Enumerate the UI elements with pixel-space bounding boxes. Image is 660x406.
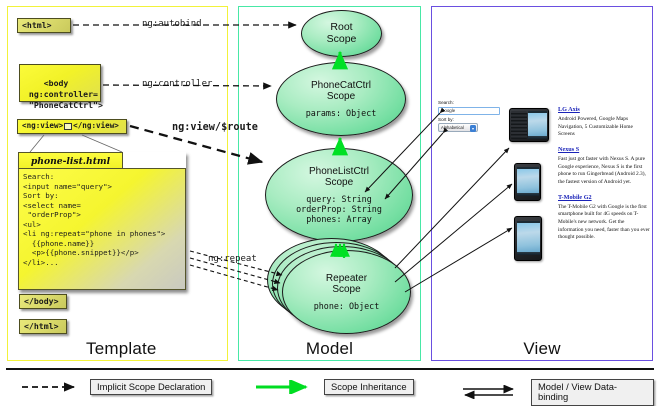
html-close-tag: </html>: [19, 319, 67, 334]
phone-keyboard: [511, 111, 527, 139]
ngview-close-text: </ng:view>: [73, 121, 119, 131]
diagram-canvas: Template Model View: [0, 0, 660, 405]
list-item: LG Axis Android Powered, Google Maps Nav…: [558, 106, 650, 139]
note-code: Search: <input name="query"> Sort by: <s…: [18, 168, 186, 290]
ngview-tag: <ng:view> </ng:view>: [17, 119, 127, 134]
scope-phonelistctrl: PhoneListCtrlScope query: String orderPr…: [265, 148, 413, 242]
edge-label-repeat: ng:repeat: [208, 254, 257, 264]
scope-phonelistctrl-name: PhoneListCtrlScope: [309, 166, 369, 189]
phone-image-lg-axis: [509, 108, 549, 142]
body-close-tag-text: </body>: [24, 296, 59, 307]
html-open-tag: <html>: [17, 18, 71, 33]
green-arrow-icon: [254, 380, 316, 394]
legend: Implicit Scope Declaration Scope Inherit…: [6, 368, 654, 402]
phone-snippet: The T-Mobile G2 with Google is the first…: [558, 204, 650, 242]
html-open-tag-text: <html>: [22, 20, 52, 31]
sort-select[interactable]: Alphabetical ▾: [438, 123, 478, 132]
double-arrow-icon: [461, 385, 523, 399]
sort-select-value: Alphabetical: [441, 125, 464, 130]
body-open-tag-text: <body ng:controller= "PhoneCatCtrl">: [24, 78, 103, 110]
scope-repeater-name: RepeaterScope: [326, 273, 367, 296]
scope-repeater: RepeaterScope phone: Object: [282, 250, 411, 334]
scope-root: RootScope: [301, 10, 382, 57]
list-item: Nexus S Fast just got faster with Nexus …: [558, 146, 650, 187]
ngview-open-text: <ng:view>: [22, 121, 63, 131]
phone-name-link[interactable]: T-Mobile G2: [558, 194, 650, 201]
dashed-arrow-icon: [20, 380, 82, 394]
phone-name-link[interactable]: Nexus S: [558, 146, 650, 153]
phone-snippet: Android Powered, Google Maps Navigation,…: [558, 116, 650, 139]
column-label-model: Model: [239, 339, 420, 359]
scope-phonecatctrl: PhoneCatCtrlScope params: Object: [276, 62, 406, 136]
sort-label: Sort by:: [438, 117, 506, 123]
phone-screen: [517, 221, 540, 255]
legend-label-scope-inheritance: Scope Inheritance: [324, 379, 414, 395]
edge-label-controller: ng:controller: [142, 79, 212, 89]
legend-divider: [6, 368, 654, 370]
column-label-view: View: [432, 339, 652, 359]
edge-label-autobind: ng:autobind: [142, 19, 202, 29]
phone-image-nexus-s: [514, 163, 541, 201]
phone-list-note-card: phone-list.html Search: <input name="que…: [18, 152, 186, 290]
legend-item-implicit-scope: Implicit Scope Declaration: [20, 379, 212, 395]
html-close-tag-text: </html>: [24, 321, 59, 332]
scope-phonecatctrl-name: PhoneCatCtrlScope: [311, 80, 371, 103]
scope-root-name: RootScope: [327, 22, 357, 46]
search-widget: Search: Google Sort by: Alphabetical ▾: [438, 100, 506, 140]
scope-phonelistctrl-props: query: String orderProp: String phones: …: [296, 194, 382, 224]
legend-label-implicit-scope: Implicit Scope Declaration: [90, 379, 212, 395]
phone-snippet: Fast just got faster with Nexus S. A pur…: [558, 156, 650, 187]
phone-name-link[interactable]: LG Axis: [558, 106, 650, 113]
body-close-tag: </body>: [19, 294, 67, 309]
chevron-down-icon: ▾: [470, 125, 476, 132]
search-label: Search:: [438, 100, 506, 106]
legend-item-data-binding: Model / View Data-binding: [461, 379, 654, 406]
scope-repeater-props: phone: Object: [314, 301, 380, 311]
phone-image-tmobile-g2: [514, 216, 542, 261]
body-open-tag: <body ng:controller= "PhoneCatCtrl">: [19, 64, 101, 102]
scope-phonecatctrl-props: params: Object: [306, 108, 377, 118]
search-input[interactable]: Google: [438, 107, 500, 115]
legend-item-scope-inheritance: Scope Inheritance: [254, 379, 414, 395]
ngview-placeholder-icon: [64, 123, 72, 130]
phone-screen: [517, 167, 539, 196]
legend-label-data-binding: Model / View Data-binding: [531, 379, 654, 406]
list-item: T-Mobile G2 The T-Mobile G2 with Google …: [558, 194, 650, 242]
phone-screen: [528, 111, 547, 139]
phone-list: LG Axis Android Powered, Google Maps Nav…: [558, 106, 650, 249]
edge-label-route: ng:view/$route: [172, 122, 258, 133]
